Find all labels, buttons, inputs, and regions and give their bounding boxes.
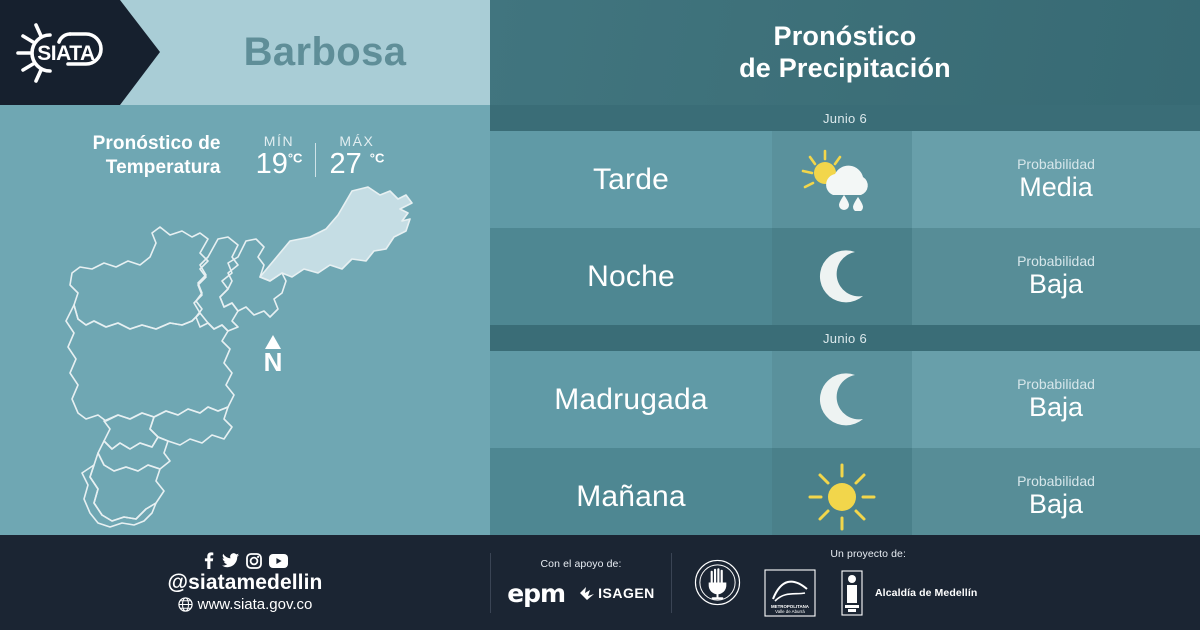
temperature-max-value: 27 °C [329, 150, 384, 179]
precipitation-forecast-table: Junio 6 Tarde [490, 105, 1200, 535]
table-row[interactable]: Tarde Pro [490, 131, 1200, 228]
website-text: www.siata.gov.co [198, 596, 313, 613]
moon-icon [811, 369, 873, 431]
forecast-title-line2: de Precipitación [739, 53, 951, 85]
probability-value: Baja [1029, 269, 1083, 300]
row-period: Madrugada [490, 351, 772, 448]
map-region-sabaneta [98, 437, 170, 471]
social-icons [202, 552, 288, 569]
map-region-barbosa [260, 187, 412, 281]
weather-icon-cell [772, 351, 912, 448]
svg-text:SIATA: SIATA [37, 42, 95, 65]
sun-rain-cloud-icon [799, 149, 885, 211]
forecast-title-line1: Pronóstico [773, 21, 916, 53]
probability-value: Baja [1029, 489, 1083, 520]
probability-cell: Probabilidad Baja [912, 448, 1200, 545]
amva-logo[interactable]: METROPOLITANA Valle de Aburrá [759, 569, 821, 617]
siata-logo-badge[interactable]: SIATA [0, 0, 160, 105]
probability-label: Probabilidad [1017, 376, 1095, 393]
facebook-icon[interactable] [202, 552, 215, 569]
table-row[interactable]: Madrugada Probabilidad Baja [490, 351, 1200, 448]
weather-icon-cell [772, 131, 912, 228]
project-logos: METROPOLITANA Valle de Aburrá Alcaldía d… [759, 569, 977, 617]
map-region-medellin [66, 305, 234, 421]
probability-cell: Probabilidad Media [912, 131, 1200, 228]
probability-cell: Probabilidad Baja [912, 351, 1200, 448]
unal-seal[interactable] [694, 559, 741, 606]
temperature-values: MÍN 19°C MÁX 27 °C [243, 133, 398, 179]
probability-cell: Probabilidad Baja [912, 228, 1200, 325]
temperature-min-unit: °C [288, 150, 303, 165]
instagram-icon[interactable] [246, 553, 262, 569]
probability-label: Probabilidad [1017, 253, 1095, 270]
date-band-1: Junio 6 [490, 105, 1200, 131]
social-handle[interactable]: @siatamedellin [168, 571, 323, 595]
row-period: Mañana [490, 448, 772, 545]
probability-label: Probabilidad [1017, 156, 1095, 173]
weather-icon-cell [772, 228, 912, 325]
map-region-caldas [82, 465, 156, 527]
alcaldia-mark-icon [835, 569, 869, 617]
weather-icon-cell [772, 448, 912, 545]
header-left: SIATA Barbosa [0, 0, 490, 105]
row-period: Tarde [490, 131, 772, 228]
probability-value: Baja [1029, 392, 1083, 423]
footer: @siatamedellin www.siata.gov.co Con el a… [0, 535, 1200, 630]
isagen-mark-icon [579, 585, 595, 601]
svg-text:N: N [264, 347, 283, 377]
temperature-title: Pronóstico de Temperatura [93, 132, 221, 180]
temperature-min-value: 19°C [256, 150, 303, 179]
date-band-2: Junio 6 [490, 325, 1200, 351]
map-region-bello [70, 227, 208, 329]
aburra-valley-map[interactable]: N [42, 177, 448, 529]
website-link[interactable]: www.siata.gov.co [178, 596, 313, 613]
sun-icon [807, 462, 877, 532]
project-block: Un proyecto de: METROPOLITANA Valle de A… [672, 548, 977, 617]
map-svg: N [42, 177, 448, 529]
moon-icon [811, 246, 873, 308]
svg-text:Valle de Aburrá: Valle de Aburrá [775, 609, 805, 614]
youtube-icon[interactable] [269, 554, 288, 568]
temperature-min-label: MÍN [264, 133, 294, 149]
table-row[interactable]: Noche Probabilidad Baja [490, 228, 1200, 325]
map-panel: Pronóstico de Temperatura MÍN 19°C MÁX 2… [0, 105, 490, 535]
temperature-min: MÍN 19°C [243, 133, 316, 179]
city-name: Barbosa [160, 0, 490, 105]
support-block: Con el apoyo de: epm ISAGEN [491, 558, 671, 608]
social-block: @siatamedellin www.siata.gov.co [0, 552, 490, 612]
alcaldia-logo[interactable]: Alcaldía de Medellín [835, 569, 977, 617]
temperature-max-label: MÁX [339, 133, 374, 149]
weather-infographic: SIATA Barbosa Pronóstico de Precipitació… [0, 0, 1200, 630]
project-logos-block: Un proyecto de: METROPOLITANA Valle de A… [759, 548, 977, 617]
probability-value: Media [1019, 172, 1093, 203]
temperature-title-line1: Pronóstico de [93, 132, 221, 156]
support-logos: epm ISAGEN [507, 579, 655, 608]
temperature-max: MÁX 27 °C [316, 133, 397, 179]
temperature-max-unit: °C [370, 150, 385, 165]
support-caption: Con el apoyo de: [541, 558, 622, 570]
row-period: Noche [490, 228, 772, 325]
compass-rose: N [264, 335, 283, 377]
forecast-title: Pronóstico de Precipitación [490, 0, 1200, 105]
probability-label: Probabilidad [1017, 473, 1095, 490]
sun-cloud-icon: SIATA [12, 19, 124, 87]
globe-icon [178, 597, 193, 612]
twitter-icon[interactable] [222, 552, 239, 569]
table-row[interactable]: Mañana Probabili [490, 448, 1200, 545]
epm-logo[interactable]: epm [507, 579, 565, 608]
project-caption: Un proyecto de: [830, 548, 906, 560]
isagen-logo[interactable]: ISAGEN [579, 585, 655, 601]
